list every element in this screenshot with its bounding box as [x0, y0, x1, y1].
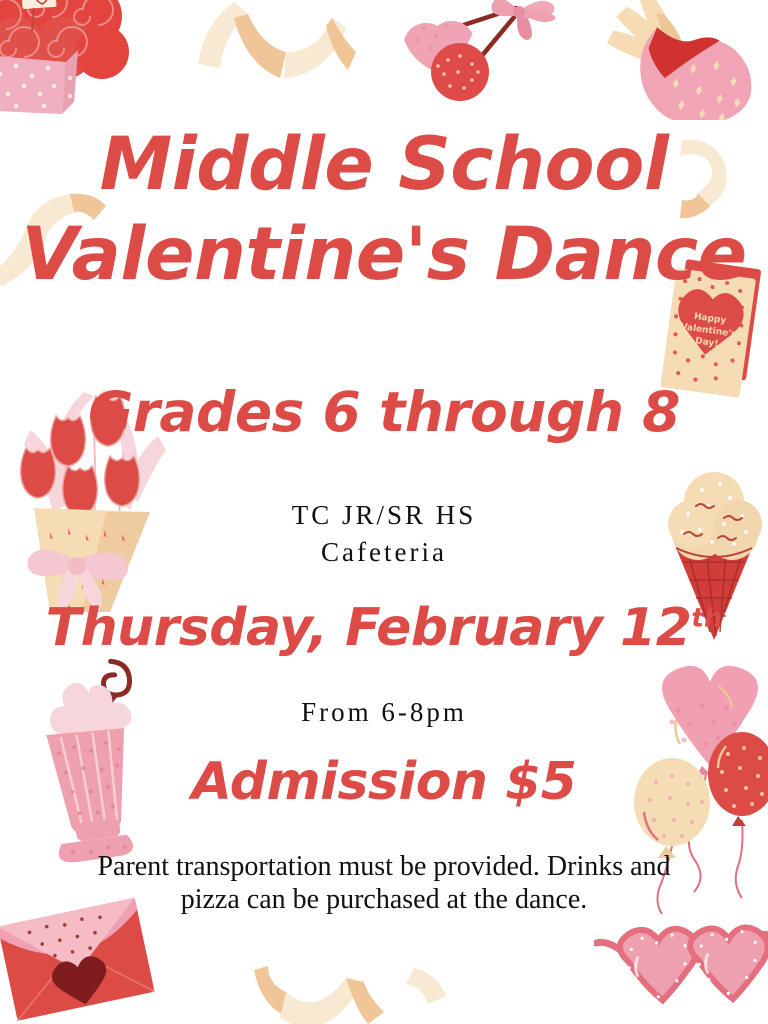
date-line: Thursday, February 12th [0, 602, 768, 654]
venue-line-1: TC JR/SR HS [0, 500, 768, 531]
date-text: Thursday, February 12 [46, 598, 692, 658]
date-suffix: th [691, 604, 722, 634]
valentines-dance-flyer: Happy Valentine's Day! [0, 0, 768, 1024]
venue-line-2: Cafeteria [0, 537, 768, 568]
flyer-title-line-2: Valentine's Dance [0, 218, 768, 291]
flyer-title-line-1: Middle School [0, 128, 768, 201]
time-line: From 6-8pm [0, 697, 768, 728]
footer-note: Parent transportation must be provided. … [96, 850, 672, 916]
grades-line: Grades 6 through 8 [0, 385, 768, 440]
flyer-text-stack: Middle School Valentine's Dance Grades 6… [0, 0, 768, 1024]
admission-line: Admission $5 [0, 756, 768, 808]
